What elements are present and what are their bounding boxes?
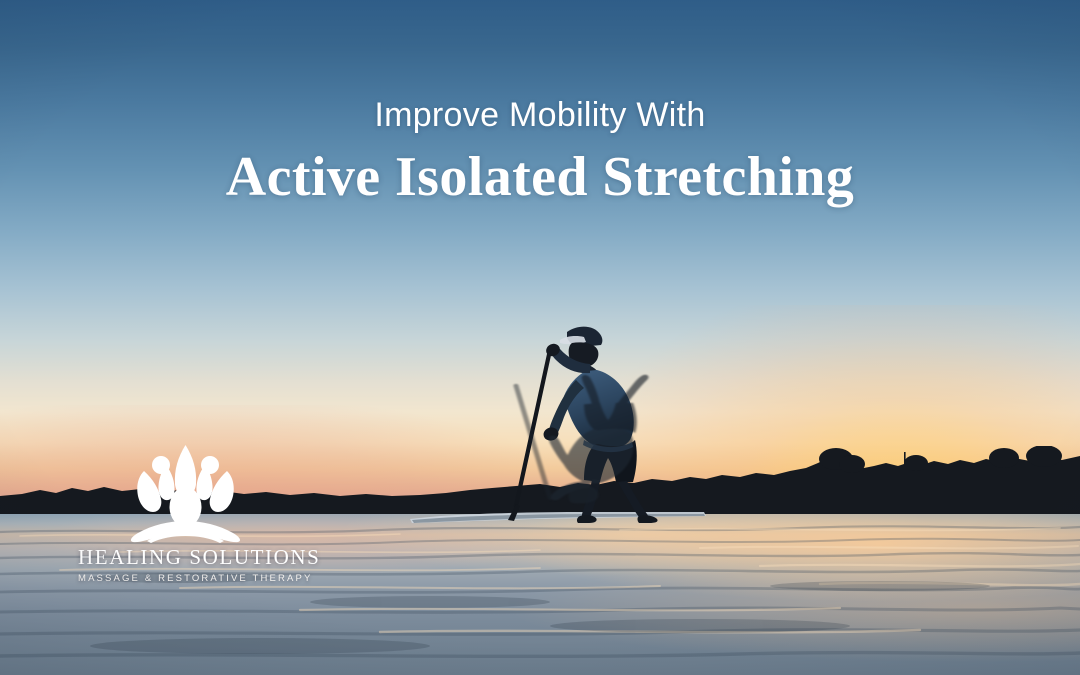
sky-gradient bbox=[0, 0, 1080, 515]
logo-tagline: MASSAGE & RESTORATIVE THERAPY bbox=[78, 573, 293, 584]
lotus-meditation-icon bbox=[78, 443, 293, 543]
promo-banner: Improve Mobility With Active Isolated St… bbox=[0, 0, 1080, 675]
brand-logo[interactable]: HEALING SOLUTIONS MASSAGE & RESTORATIVE … bbox=[78, 443, 293, 584]
headline-text: Active Isolated Stretching bbox=[0, 147, 1080, 209]
headline-block: Improve Mobility With Active Isolated St… bbox=[0, 96, 1080, 209]
logo-name: HEALING SOLUTIONS bbox=[78, 545, 293, 570]
eyebrow-text: Improve Mobility With bbox=[0, 96, 1080, 135]
